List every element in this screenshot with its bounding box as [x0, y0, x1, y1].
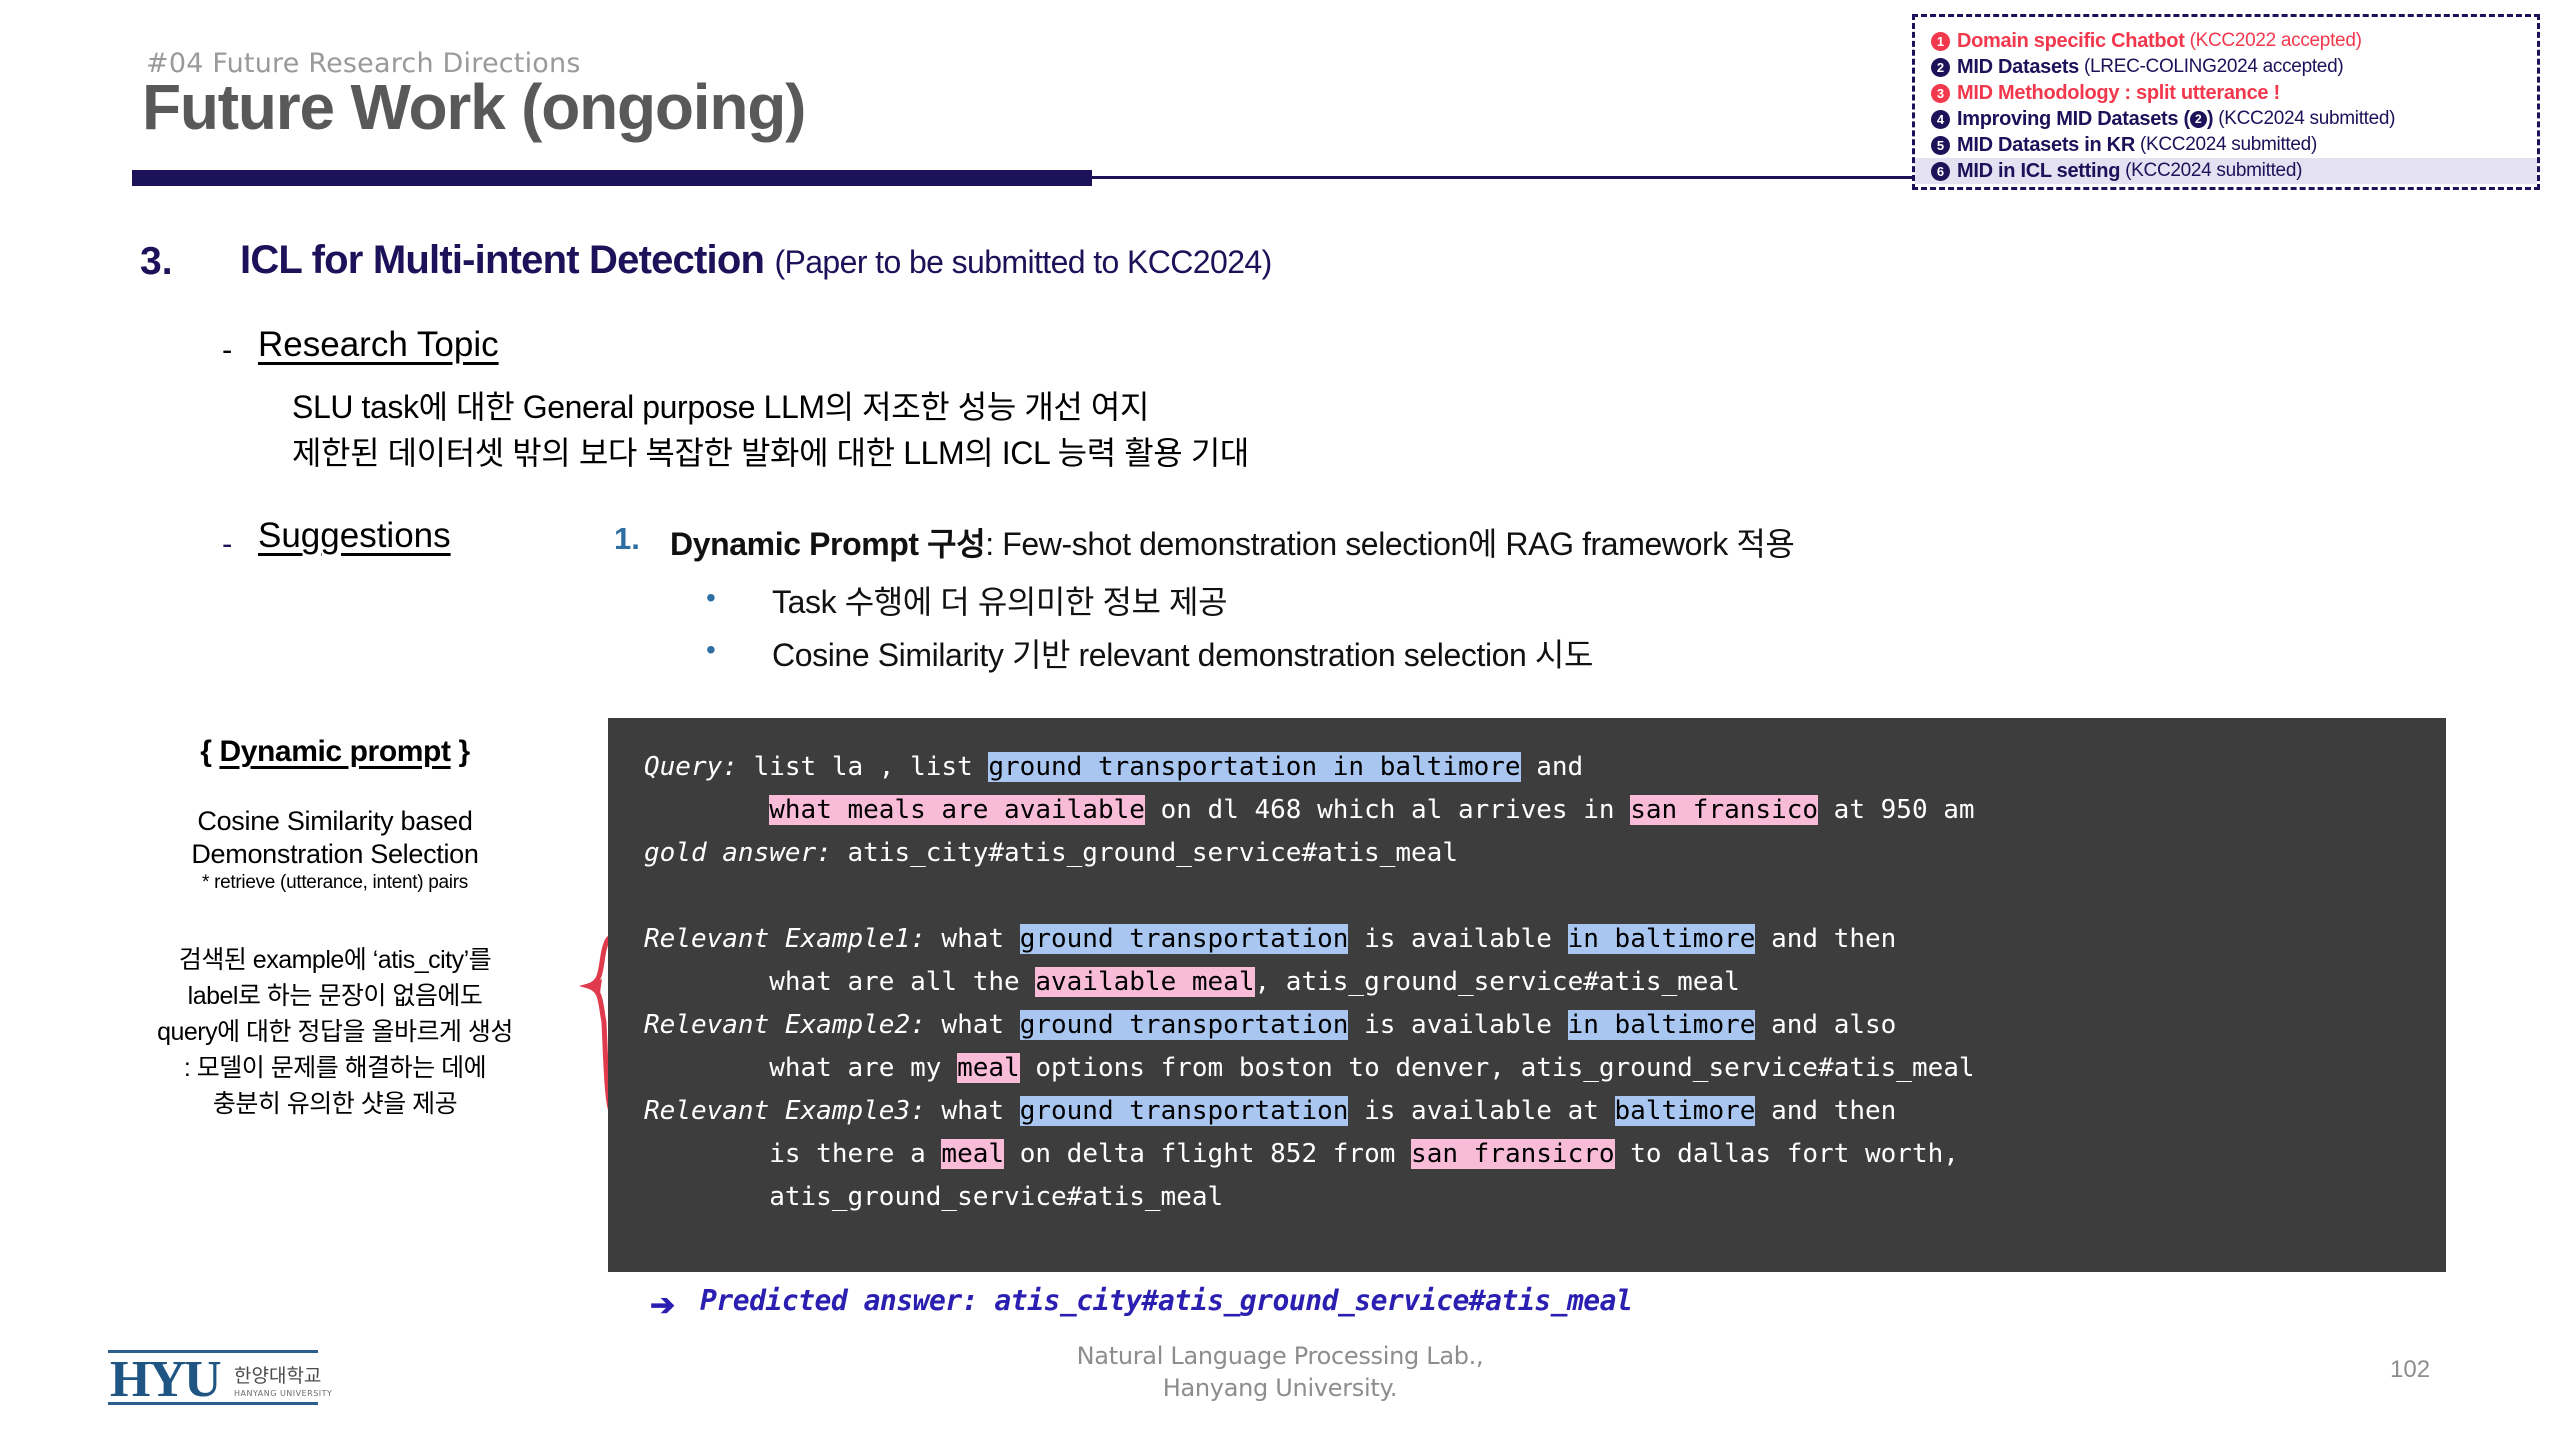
code-text: what [926, 1096, 1020, 1126]
highlight-pink: san fransico [1630, 795, 1818, 825]
highlight-pink: available meal [1035, 967, 1254, 997]
legend-item-6-label: MID in ICL setting [1957, 160, 2120, 183]
highlight-blue: in baltimore [1568, 924, 1756, 954]
legend-item-1-note: (KCC2022 accepted) [2190, 30, 2362, 52]
highlight-blue: ground transportation [1020, 1010, 1349, 1040]
dp-subtitle-line-1: Cosine Similarity based [100, 805, 570, 838]
code-text: list la , list [738, 752, 988, 782]
code-line: what are all the available meal, atis_gr… [644, 961, 1975, 1004]
legend-item-5-note: (KCC2024 submitted) [2140, 134, 2317, 156]
svg-text:HANYANG UNIVERSITY: HANYANG UNIVERSITY [234, 1389, 332, 1398]
legend-item-3[interactable]: 3 MID Methodology : split utterance ! [1915, 80, 2537, 106]
legend-item-6[interactable]: 6 MID in ICL setting (KCC2024 submitted) [1915, 158, 2537, 184]
suggestion-bullet-icon-2: • [706, 634, 716, 666]
section-title-note: (Paper to be submitted to KCC2024) [774, 244, 1271, 280]
dynamic-prompt-code-block: Query: list la , list ground transportat… [608, 718, 2446, 1272]
code-text: what [926, 924, 1020, 954]
research-topic-heading: Research Topic [258, 325, 499, 365]
legend-item-2-note: (LREC-COLING2024 accepted) [2084, 56, 2343, 78]
suggestion-item-number: 1. [614, 521, 640, 557]
code-label: Relevant Example3: [644, 1096, 926, 1126]
highlight-blue: ground transportation in baltimore [988, 752, 1520, 782]
code-text: is there a [644, 1139, 941, 1169]
legend-badge-6: 6 [1931, 162, 1950, 181]
legend-badge-2: 2 [1931, 58, 1950, 77]
code-text: options from boston to denver, atis_grou… [1020, 1053, 1975, 1083]
legend-item-1-label: Domain specific Chatbot [1957, 30, 2185, 53]
code-block-text: Query: list la , list ground transportat… [644, 746, 1975, 1219]
highlight-pink: san fransicro [1411, 1139, 1615, 1169]
title-rule [132, 170, 1092, 186]
code-text: at 950 am [1818, 795, 1975, 825]
code-text: on dl 468 which al arrives in [1145, 795, 1630, 825]
suggestion-item-rest: : Few-shot demonstration selection에 RAG … [985, 526, 1794, 562]
section-number: 3. [140, 240, 173, 284]
legend-badge-3: 3 [1931, 84, 1950, 103]
dp-title-main: Dynamic prompt [219, 735, 450, 768]
research-topic-dash: - [222, 332, 232, 368]
dp-kr-line-3: query에 대한 정답을 올바르게 생성 [90, 1014, 580, 1050]
code-text: is available [1348, 1010, 1567, 1040]
research-topic-line-1: SLU task에 대한 General purpose LLM의 저조한 성능… [292, 382, 1149, 428]
page-title: Future Work (ongoing) [142, 70, 805, 144]
code-line: what meals are available on dl 468 which… [644, 789, 1975, 832]
code-text [644, 795, 769, 825]
code-text: what are my [644, 1053, 957, 1083]
legend-item-5[interactable]: 5 MID Datasets in KR (KCC2024 submitted) [1915, 132, 2537, 158]
code-line: gold answer: atis_city#atis_ground_servi… [644, 832, 1975, 875]
suggestion-sub-1: Task 수행에 더 유의미한 정보 제공 [772, 577, 1227, 623]
highlight-blue: baltimore [1615, 1096, 1756, 1126]
suggestion-item-bold: Dynamic Prompt 구성 [670, 526, 985, 562]
legend-inline-badge-2: 2 [2190, 111, 2207, 128]
dp-kr-line-2: label로 하는 문장이 없음에도 [90, 978, 580, 1014]
footer-lab-name: Natural Language Processing Lab., Hanyan… [960, 1340, 1600, 1404]
footer-line-2: Hanyang University. [960, 1372, 1600, 1404]
dynamic-prompt-title: { Dynamic prompt } [125, 735, 545, 769]
code-text: and then [1755, 924, 1896, 954]
highlight-blue: in baltimore [1568, 1010, 1756, 1040]
dp-kr-line-4: : 모델이 문제를 해결하는 데에 [90, 1050, 580, 1086]
suggestion-sub-2: Cosine Similarity 기반 relevant demonstrat… [772, 630, 1593, 676]
code-text: what [926, 1010, 1020, 1040]
highlight-pink: meal [957, 1053, 1020, 1083]
predicted-answer-arrow-icon: ➔ [650, 1288, 675, 1323]
code-line: is there a meal on delta flight 852 from… [644, 1133, 1975, 1176]
suggestions-heading: Suggestions [258, 516, 451, 556]
legend-item-5-label: MID Datasets in KR [1957, 134, 2135, 157]
code-line: Relevant Example3: what ground transport… [644, 1090, 1975, 1133]
dynamic-prompt-subtitle: Cosine Similarity based Demonstration Se… [100, 805, 570, 871]
legend-badge-1: 1 [1931, 32, 1950, 51]
legend-item-6-note: (KCC2024 submitted) [2125, 160, 2302, 182]
dynamic-prompt-note: * retrieve (utterance, intent) pairs [110, 872, 560, 894]
legend-item-2[interactable]: 2 MID Datasets (LREC-COLING2024 accepted… [1915, 54, 2537, 80]
section-title: ICL for Multi-intent Detection (Paper to… [240, 238, 1272, 283]
code-text: and then [1755, 1096, 1896, 1126]
research-topic-line-2: 제한된 데이터셋 밖의 보다 복잡한 발화에 대한 LLM의 ICL 능력 활용… [292, 428, 1249, 474]
code-text: what are all the [644, 967, 1035, 997]
highlight-blue: ground transportation [1020, 1096, 1349, 1126]
dp-kr-line-5: 충분히 유의한 샷을 제공 [90, 1086, 580, 1122]
predicted-answer-text: Predicted answer: atis_city#atis_ground_… [700, 1284, 1632, 1317]
legend-badge-5: 5 [1931, 136, 1950, 155]
code-line [644, 875, 1975, 918]
code-label: Query: [644, 752, 738, 782]
highlight-pink: meal [941, 1139, 1004, 1169]
section-title-main: ICL for Multi-intent Detection [240, 238, 764, 282]
research-roadmap-legend: 1 Domain specific Chatbot (KCC2022 accep… [1912, 14, 2540, 190]
page-number: 102 [2390, 1356, 2430, 1384]
suggestion-bullet-icon-1: • [706, 582, 716, 614]
legend-item-4-note: (KCC2024 submitted) [2218, 108, 2395, 130]
dp-brace-close: } [451, 735, 470, 768]
code-label: Relevant Example1: [644, 924, 926, 954]
code-line: Query: list la , list ground transportat… [644, 746, 1975, 789]
code-text: and also [1755, 1010, 1896, 1040]
code-label: Relevant Example2: [644, 1010, 926, 1040]
legend-badge-4: 4 [1931, 110, 1950, 129]
highlight-blue: ground transportation [1020, 924, 1349, 954]
highlight-pink: what meals are available [769, 795, 1145, 825]
code-line: what are my meal options from boston to … [644, 1047, 1975, 1090]
svg-text:한양대학교: 한양대학교 [234, 1365, 321, 1387]
dp-kr-line-1: 검색된 example에 ‘atis_city’를 [90, 942, 580, 978]
legend-item-4-label-pre: Improving MID Datasets ( [1957, 108, 2190, 131]
legend-item-1[interactable]: 1 Domain specific Chatbot (KCC2022 accep… [1915, 28, 2537, 54]
code-text: to dallas fort worth, [1615, 1139, 1959, 1169]
dp-subtitle-line-2: Demonstration Selection [100, 838, 570, 871]
code-text: atis_city#atis_ground_service#atis_meal [832, 838, 1458, 868]
hanyang-university-logo: HYU 한양대학교 HANYANG UNIVERSITY [106, 1348, 406, 1408]
code-text: atis_ground_service#atis_meal [644, 1182, 1223, 1212]
dp-brace-open: { [200, 735, 219, 768]
dynamic-prompt-korean-note: 검색된 example에 ‘atis_city’를 label로 하는 문장이 … [90, 942, 580, 1122]
svg-text:HYU: HYU [110, 1351, 221, 1408]
suggestion-item-text: Dynamic Prompt 구성: Few-shot demonstratio… [670, 519, 1794, 565]
code-text: on delta flight 852 from [1004, 1139, 1411, 1169]
code-text: is available [1348, 924, 1567, 954]
legend-item-4-label-post: ) [2207, 108, 2213, 131]
legend-item-4[interactable]: 4 Improving MID Datasets (2) (KCC2024 su… [1915, 106, 2537, 132]
code-text: and [1521, 752, 1584, 782]
legend-item-2-label: MID Datasets [1957, 56, 2079, 79]
footer-line-1: Natural Language Processing Lab., [960, 1340, 1600, 1372]
code-label: gold answer: [644, 838, 832, 868]
code-line: atis_ground_service#atis_meal [644, 1176, 1975, 1219]
suggestions-dash: - [222, 526, 232, 562]
code-line: Relevant Example1: what ground transport… [644, 918, 1975, 961]
code-text: is available at [1348, 1096, 1614, 1126]
code-line: Relevant Example2: what ground transport… [644, 1004, 1975, 1047]
legend-item-3-label: MID Methodology : split utterance ! [1957, 82, 2280, 105]
code-text: , atis_ground_service#atis_meal [1255, 967, 1740, 997]
